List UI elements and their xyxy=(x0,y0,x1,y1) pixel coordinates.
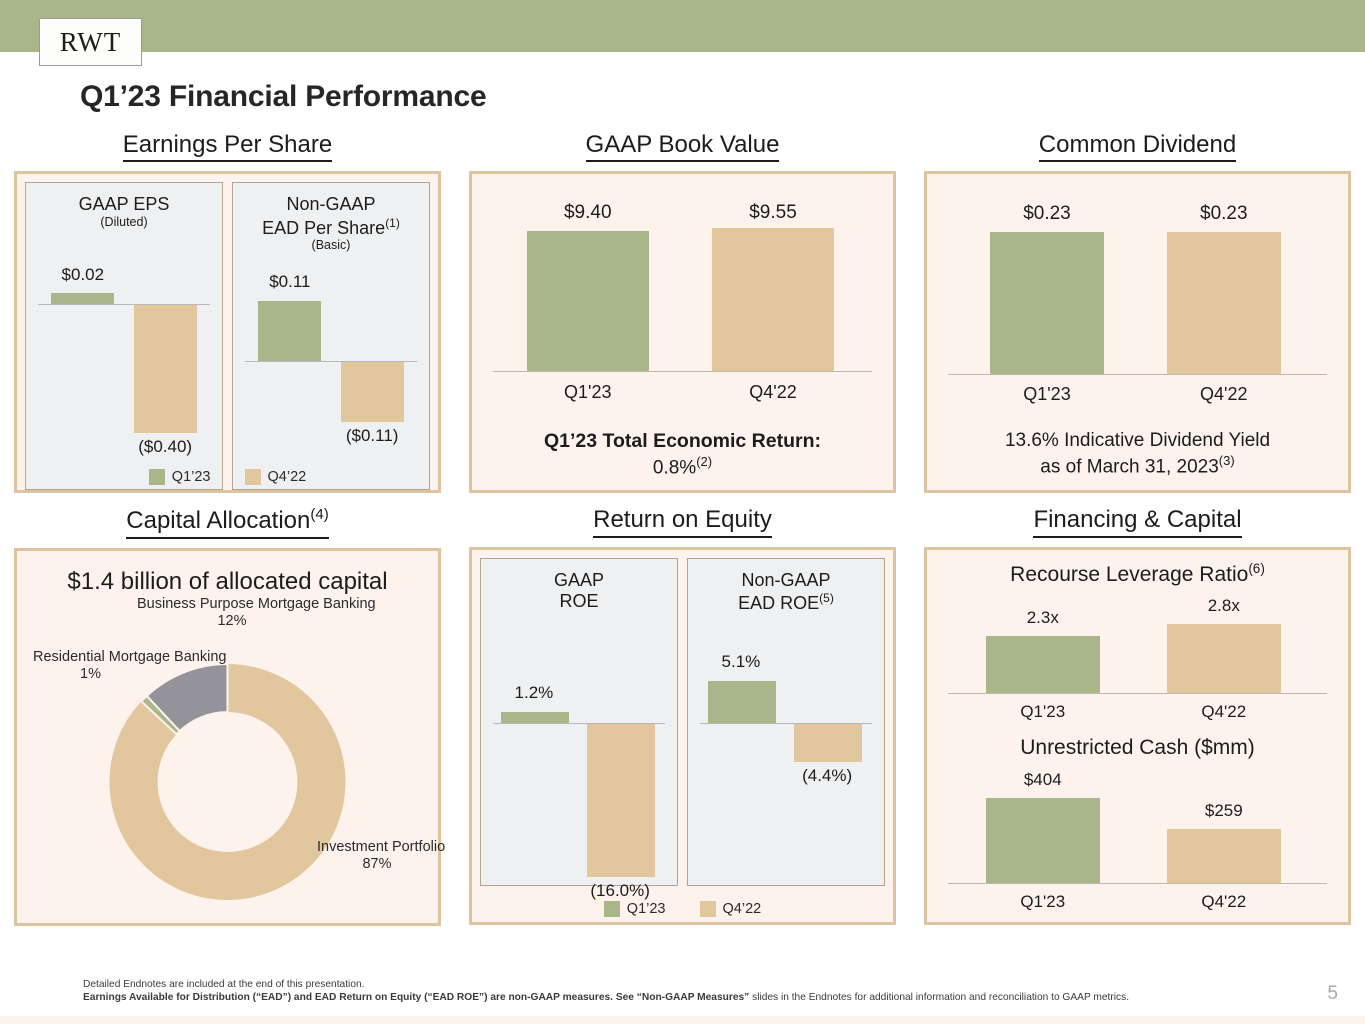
bpmb-value: 12% xyxy=(217,613,246,629)
footer-line-2: Earnings Available for Distribution (“EA… xyxy=(83,991,1293,1004)
bar-label-q1-23: $0.02 xyxy=(42,265,124,285)
bar-label-q1-23: 5.1% xyxy=(700,652,782,672)
cell-earnings-per-share: Earnings Per Share GAAP EPS (Diluted) xyxy=(0,132,455,493)
panel-eps: GAAP EPS (Diluted) $0.02 ($0.40) xyxy=(14,171,441,493)
rmb-name: Residential Mortgage Banking xyxy=(33,649,226,665)
rmb-value: 1% xyxy=(80,666,101,682)
chart-nongaap-ead-per-share: $0.11 ($0.11) xyxy=(233,183,429,489)
ter-value: 0.8% xyxy=(653,457,696,478)
slide: RWT Q1’23 Financial Performance Earnings… xyxy=(0,0,1365,1024)
bar-label-q1-23: $404 xyxy=(965,770,1121,790)
bar-q4-22 xyxy=(1167,829,1281,883)
legend-eps: Q1’23 Q4’22 xyxy=(17,469,438,485)
chart-unrestricted-cash: $404 Q1'23 $259 Q4'22 xyxy=(927,550,1348,922)
axis-line xyxy=(948,883,1327,884)
dividend-footnote-marker: (3) xyxy=(1219,453,1235,468)
legend-item-q4-22: Q4’22 xyxy=(700,901,762,917)
subpanel-nongaap-ead-per-share: Non-GAAP EAD Per Share(1) (Basic) $0.11 … xyxy=(232,182,430,490)
panel-dividend: $0.23 Q1'23 $0.23 Q4'22 13.6% Indicative… xyxy=(924,171,1351,493)
donut-chart-capital-allocation: Business Purpose Mortgage Banking 12% Re… xyxy=(17,597,438,927)
panel-capital-allocation: $1.4 billion of allocated capital xyxy=(14,548,441,926)
subpanel-gaap-roe: GAAP ROE 1.2% (16.0%) xyxy=(480,558,678,886)
grid-row-1: Earnings Per Share GAAP EPS (Diluted) xyxy=(0,132,1365,493)
bar-label-q4-22: $9.55 xyxy=(691,202,855,224)
bar-q4-22 xyxy=(134,305,197,433)
bar-label-q4-22: (4.4%) xyxy=(776,766,878,786)
bar-label-q1-23: $0.23 xyxy=(969,203,1125,225)
legend-item-q1-23: Q1’23 xyxy=(149,469,211,485)
bar-q4-22 xyxy=(587,724,656,877)
bar-q1-23 xyxy=(501,712,570,723)
donut-svg xyxy=(17,597,438,927)
note-dividend-yield: 13.6% Indicative Dividend Yield as of Ma… xyxy=(927,429,1348,479)
bar-q4-22 xyxy=(712,228,834,371)
logo-text: RWT xyxy=(60,27,122,58)
cat-label-q1-23: Q1'23 xyxy=(969,384,1125,405)
footer-band xyxy=(0,1016,1365,1024)
panel-financing-capital: Recourse Leverage Ratio(6) 2.3x Q1'23 2.… xyxy=(924,547,1351,925)
cell-return-on-equity: Return on Equity GAAP ROE 1 xyxy=(455,507,910,925)
legend-item-q1-23: Q1’23 xyxy=(604,901,666,917)
cell-financing-capital: Financing & Capital Recourse Leverage Ra… xyxy=(910,507,1365,925)
bar-label-q4-22: $0.23 xyxy=(1146,203,1302,225)
pie-label-business-purpose: Business Purpose Mortgage Banking 12% xyxy=(137,596,327,630)
bar-label-q1-23: $0.11 xyxy=(249,272,331,292)
bar-q1-23 xyxy=(708,681,777,723)
capital-footnote-marker: (4) xyxy=(310,506,328,523)
chart-nongaap-ead-roe: 5.1% (4.4%) xyxy=(688,559,884,885)
bar-q1-23 xyxy=(258,301,321,361)
bar-label-q4-22: (16.0%) xyxy=(569,881,671,901)
bar-q4-22 xyxy=(794,724,863,762)
cat-label-q4-22: Q4'22 xyxy=(1146,892,1302,912)
page-number: 5 xyxy=(1327,983,1338,1005)
cat-label-q1-23: Q1'23 xyxy=(965,892,1121,912)
footer-line-2-regular: slides in the Endnotes for additional in… xyxy=(749,992,1129,1003)
bar-q1-23 xyxy=(51,293,114,304)
ip-value: 87% xyxy=(362,856,391,872)
footer-endnotes: Detailed Endnotes are included at the en… xyxy=(83,978,1293,1005)
footer-line-2-bold: Earnings Available for Distribution (“EA… xyxy=(83,992,749,1003)
footer-line-1: Detailed Endnotes are included at the en… xyxy=(83,978,1293,991)
legend-label-q4-22: Q4’22 xyxy=(723,901,762,917)
legend-item-q4-22: Q4’22 xyxy=(245,469,307,485)
chart-gaap-eps: $0.02 ($0.40) xyxy=(26,183,222,489)
grid-row-2: Capital Allocation(4) $1.4 billion of al… xyxy=(0,507,1365,925)
panel-title-roe: Return on Equity xyxy=(593,507,772,537)
ter-label: Q1’23 Total Economic Return: xyxy=(472,429,893,453)
cat-label-q4-22: Q4'22 xyxy=(691,382,855,403)
panel-title-capital-allocation: Capital Allocation(4) xyxy=(126,507,328,538)
legend-label-q4-22: Q4’22 xyxy=(268,469,307,485)
bar-q1-23 xyxy=(990,232,1104,374)
panel-title-book-value: GAAP Book Value xyxy=(586,132,780,162)
cell-capital-allocation: Capital Allocation(4) $1.4 billion of al… xyxy=(0,507,455,925)
bar-q4-22 xyxy=(1167,232,1281,374)
subpanel-gaap-eps: GAAP EPS (Diluted) $0.02 ($0.40) xyxy=(25,182,223,490)
bar-label-q4-22: ($0.40) xyxy=(120,437,210,457)
axis-line xyxy=(948,374,1327,375)
legend-label-q1-23: Q1’23 xyxy=(627,901,666,917)
axis-line xyxy=(493,371,872,372)
note-total-economic-return: Q1’23 Total Economic Return: 0.8%(2) xyxy=(472,429,893,479)
header-band xyxy=(0,0,1365,52)
chart-gaap-roe: 1.2% (16.0%) xyxy=(481,559,677,885)
rwt-logo: RWT xyxy=(39,18,142,66)
bar-q1-23 xyxy=(986,798,1100,883)
subpanel-nongaap-ead-roe: Non-GAAP EAD ROE(5) 5.1% (4.4%) xyxy=(687,558,885,886)
bar-label-q4-22: $259 xyxy=(1146,801,1302,821)
dividend-yield-line2-row: as of March 31, 2023(3) xyxy=(927,453,1348,479)
legend-label-q1-23: Q1’23 xyxy=(172,469,211,485)
panel-book-value: $9.40 Q1'23 $9.55 Q4'22 Q1’23 Total Econ… xyxy=(469,171,896,493)
dividend-yield-line1: 13.6% Indicative Dividend Yield xyxy=(927,429,1348,453)
legend-swatch-green xyxy=(604,901,620,917)
ter-footnote-marker: (2) xyxy=(696,454,712,469)
bar-label-q1-23: 1.2% xyxy=(493,683,575,703)
ip-name: Investment Portfolio xyxy=(317,839,445,855)
legend-swatch-tan xyxy=(700,901,716,917)
bar-label-q1-23: $9.40 xyxy=(506,202,670,224)
capital-title-text: Capital Allocation xyxy=(126,507,310,534)
pie-label-residential: Residential Mortgage Banking 1% xyxy=(33,649,148,683)
cat-label-q4-22: Q4'22 xyxy=(1146,384,1302,405)
panel-title-financing: Financing & Capital xyxy=(1033,507,1241,537)
capital-headline: $1.4 billion of allocated capital xyxy=(17,568,438,596)
bpmb-name: Business Purpose Mortgage Banking xyxy=(137,596,376,612)
dividend-yield-line2: as of March 31, 2023 xyxy=(1040,456,1219,477)
panel-roe: GAAP ROE 1.2% (16.0%) xyxy=(469,547,896,925)
legend-roe: Q1’23 Q4’22 xyxy=(472,901,893,917)
page-title: Q1’23 Financial Performance xyxy=(80,80,486,114)
cell-common-dividend: Common Dividend $0.23 Q1'23 $0.23 Q4'22 … xyxy=(910,132,1365,493)
metrics-grid: Earnings Per Share GAAP EPS (Diluted) xyxy=(0,132,1365,926)
bar-label-q4-22: ($0.11) xyxy=(327,426,417,446)
cat-label-q1-23: Q1'23 xyxy=(506,382,670,403)
panel-title-eps: Earnings Per Share xyxy=(123,132,332,162)
panel-title-dividend: Common Dividend xyxy=(1039,132,1236,162)
bar-q4-22 xyxy=(341,362,404,422)
bar-q1-23 xyxy=(527,231,649,371)
legend-swatch-green xyxy=(149,469,165,485)
cell-gaap-book-value: GAAP Book Value $9.40 Q1'23 $9.55 Q4'22 … xyxy=(455,132,910,493)
pie-label-investment-portfolio: Investment Portfolio 87% xyxy=(317,839,437,873)
legend-swatch-tan xyxy=(245,469,261,485)
ter-value-row: 0.8%(2) xyxy=(472,454,893,480)
